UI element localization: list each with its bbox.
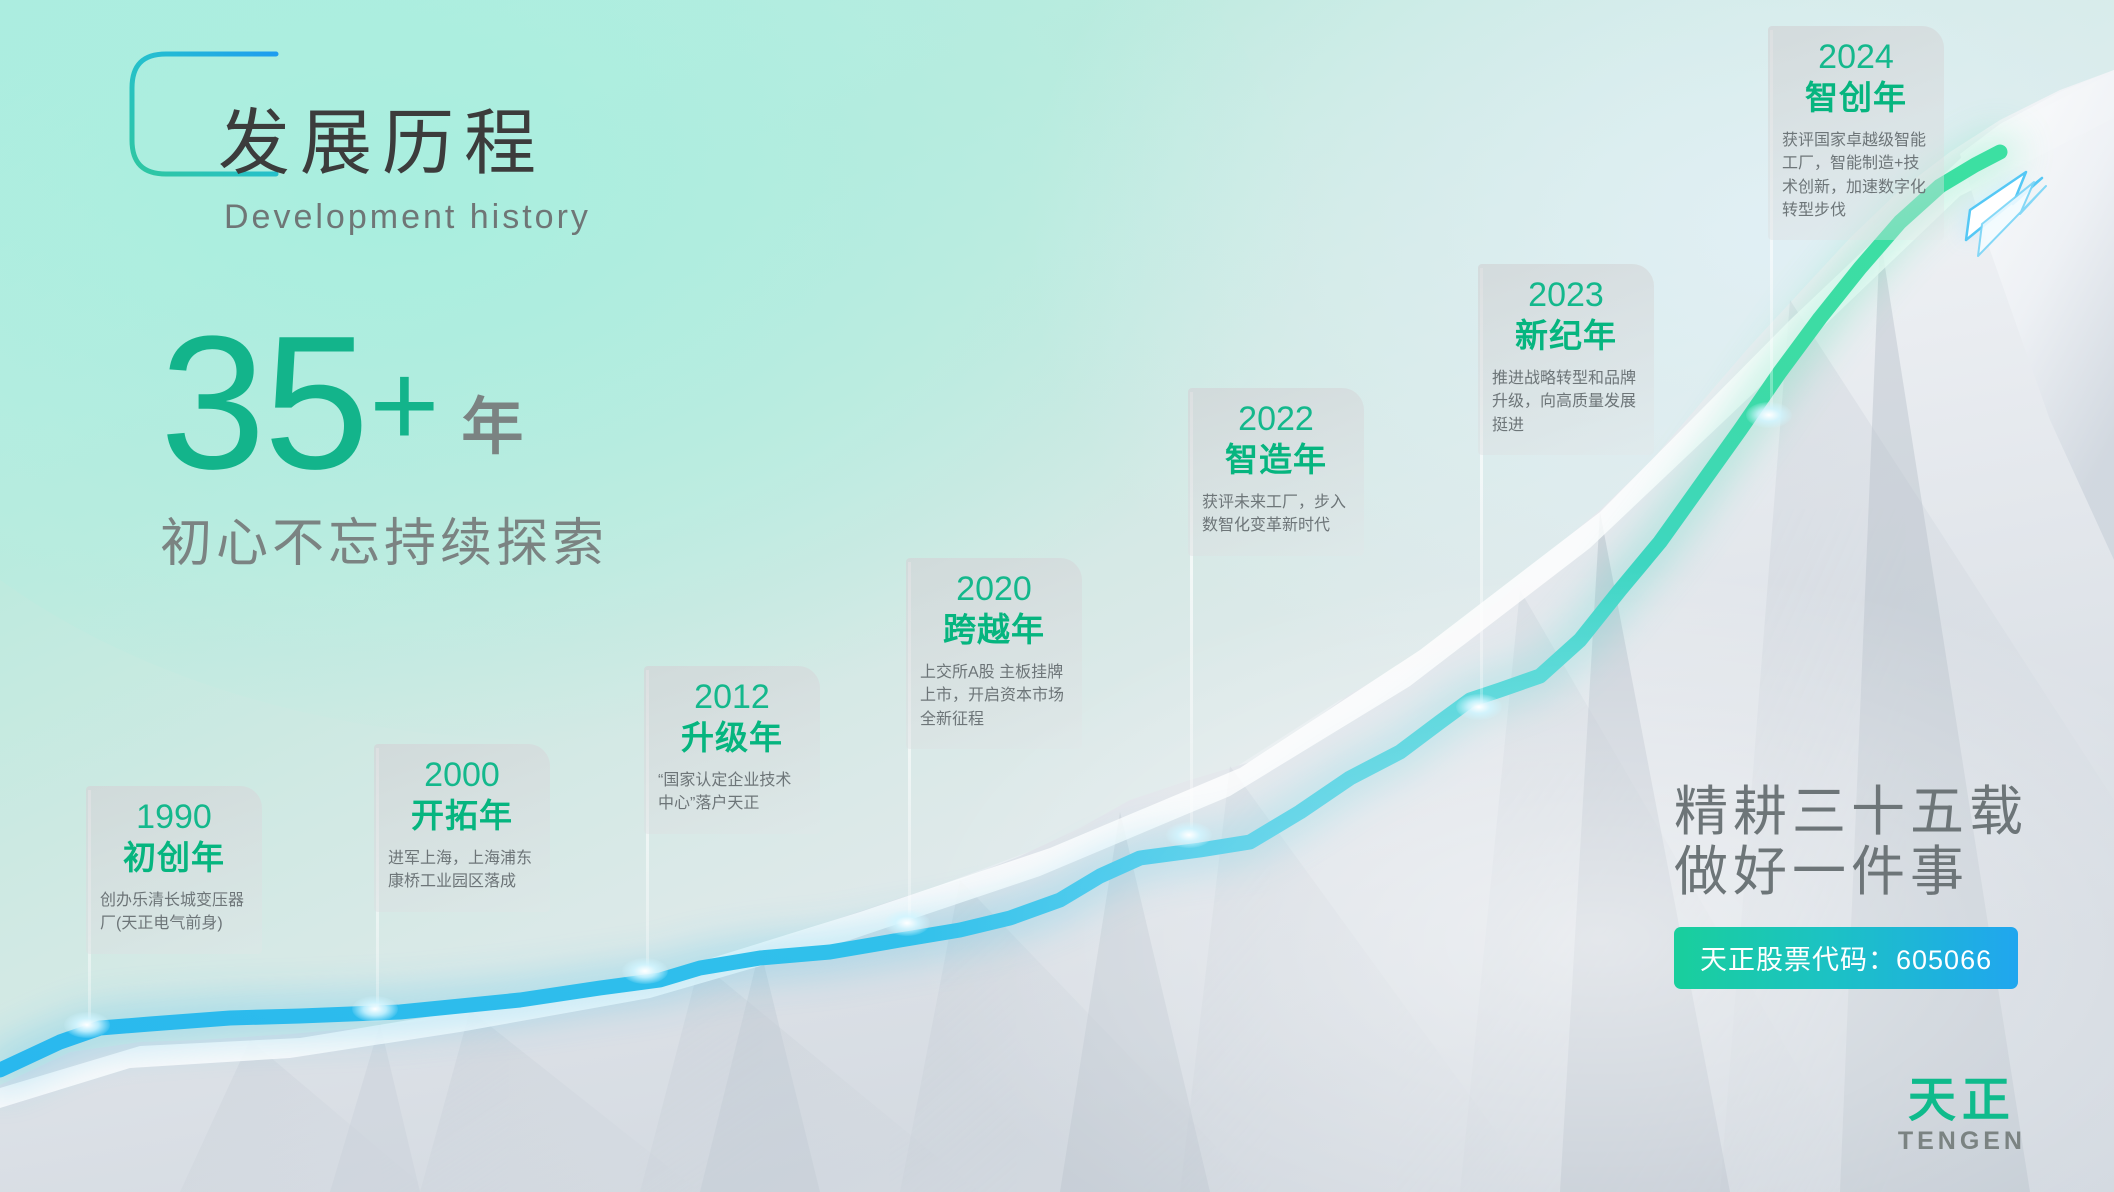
milestone-desc: 推进战略转型和品牌升级，向高质量发展挺进 bbox=[1490, 367, 1642, 437]
milestone-year: 2024 bbox=[1780, 40, 1932, 76]
slogan-line-2: 做好一件事 bbox=[1674, 842, 2028, 902]
ridge-glow-2022 bbox=[1166, 822, 1212, 848]
milestone-card-2020[interactable]: 2020 跨越年 上交所A股 主板挂牌上市，开启资本市场全新征程 bbox=[906, 558, 1082, 749]
milestone-year: 2023 bbox=[1490, 278, 1642, 314]
milestone-name: 升级年 bbox=[656, 718, 808, 758]
milestone-name: 新纪年 bbox=[1490, 316, 1642, 356]
milestone-card-2023[interactable]: 2023 新纪年 推进战略转型和品牌升级，向高质量发展挺进 bbox=[1478, 264, 1654, 455]
milestone-card-1990[interactable]: 1990 初创年 创办乐清长城变压器厂(天正电气前身) bbox=[86, 786, 262, 954]
milestone-year: 2000 bbox=[386, 758, 538, 794]
milestone-year: 1990 bbox=[98, 800, 250, 836]
milestone-desc: “国家认定企业技术中心”落户天正 bbox=[656, 769, 808, 815]
page-title: 发展历程 bbox=[218, 108, 546, 180]
ridge-glow-2000 bbox=[352, 996, 398, 1022]
milestone-year: 2012 bbox=[656, 680, 808, 716]
company-logo: 天正 TENGEN bbox=[1898, 1077, 2026, 1154]
milestone-name: 智创年 bbox=[1780, 78, 1932, 118]
milestone-card-2000[interactable]: 2000 开拓年 进军上海，上海浦东康桥工业园区落成 bbox=[374, 744, 550, 912]
years-unit: 年 bbox=[461, 397, 523, 459]
years-stat-row: 35 + 年 bbox=[160, 320, 608, 487]
ridge-glow-2012 bbox=[622, 958, 668, 984]
milestone-year: 2020 bbox=[918, 572, 1070, 608]
milestone-name: 智造年 bbox=[1200, 440, 1352, 480]
milestone-card-2024[interactable]: 2024 智创年 获评国家卓越级智能工厂，智能制造+技术创新，加速数字化转型步伐 bbox=[1768, 26, 1944, 240]
years-number: 35 bbox=[160, 320, 367, 487]
years-plus-sign: + bbox=[369, 345, 439, 465]
slogan-line-1: 精耕三十五载 bbox=[1674, 782, 2028, 842]
milestone-card-2022[interactable]: 2022 智造年 获评未来工厂，步入数智化变革新时代 bbox=[1188, 388, 1364, 556]
company-slogan-block: 精耕三十五载 做好一件事 天正股票代码：605066 bbox=[1674, 782, 2028, 989]
years-stat-subtitle: 初心不忘持续探索 bbox=[160, 501, 608, 576]
milestone-desc: 上交所A股 主板挂牌上市，开启资本市场全新征程 bbox=[918, 661, 1070, 731]
stock-code-badge: 天正股票代码：605066 bbox=[1674, 927, 2018, 989]
milestone-desc: 创办乐清长城变压器厂(天正电气前身) bbox=[98, 889, 250, 935]
years-stat-block: 35 + 年 初心不忘持续探索 bbox=[160, 320, 608, 576]
milestone-name: 开拓年 bbox=[386, 796, 538, 836]
ridge-glow-2020 bbox=[884, 910, 930, 936]
ridge-glow-2023 bbox=[1456, 694, 1502, 720]
milestone-name: 初创年 bbox=[98, 838, 250, 878]
milestone-year: 2022 bbox=[1200, 402, 1352, 438]
ridge-glow-2024 bbox=[1746, 402, 1792, 428]
page-subtitle: Development history bbox=[224, 200, 591, 234]
development-history-poster: 发展历程 Development history 35 + 年 初心不忘持续探索… bbox=[0, 0, 2114, 1192]
logo-english-name: TENGEN bbox=[1898, 1129, 2026, 1154]
milestone-desc: 进军上海，上海浦东康桥工业园区落成 bbox=[386, 847, 538, 893]
logo-chinese-name: 天正 bbox=[1898, 1077, 2026, 1125]
milestone-name: 跨越年 bbox=[918, 610, 1070, 650]
milestone-desc: 获评国家卓越级智能工厂，智能制造+技术创新，加速数字化转型步伐 bbox=[1780, 129, 1932, 222]
ridge-glow-1990 bbox=[64, 1012, 110, 1038]
milestone-card-2012[interactable]: 2012 升级年 “国家认定企业技术中心”落户天正 bbox=[644, 666, 820, 834]
milestone-desc: 获评未来工厂，步入数智化变革新时代 bbox=[1200, 491, 1352, 537]
